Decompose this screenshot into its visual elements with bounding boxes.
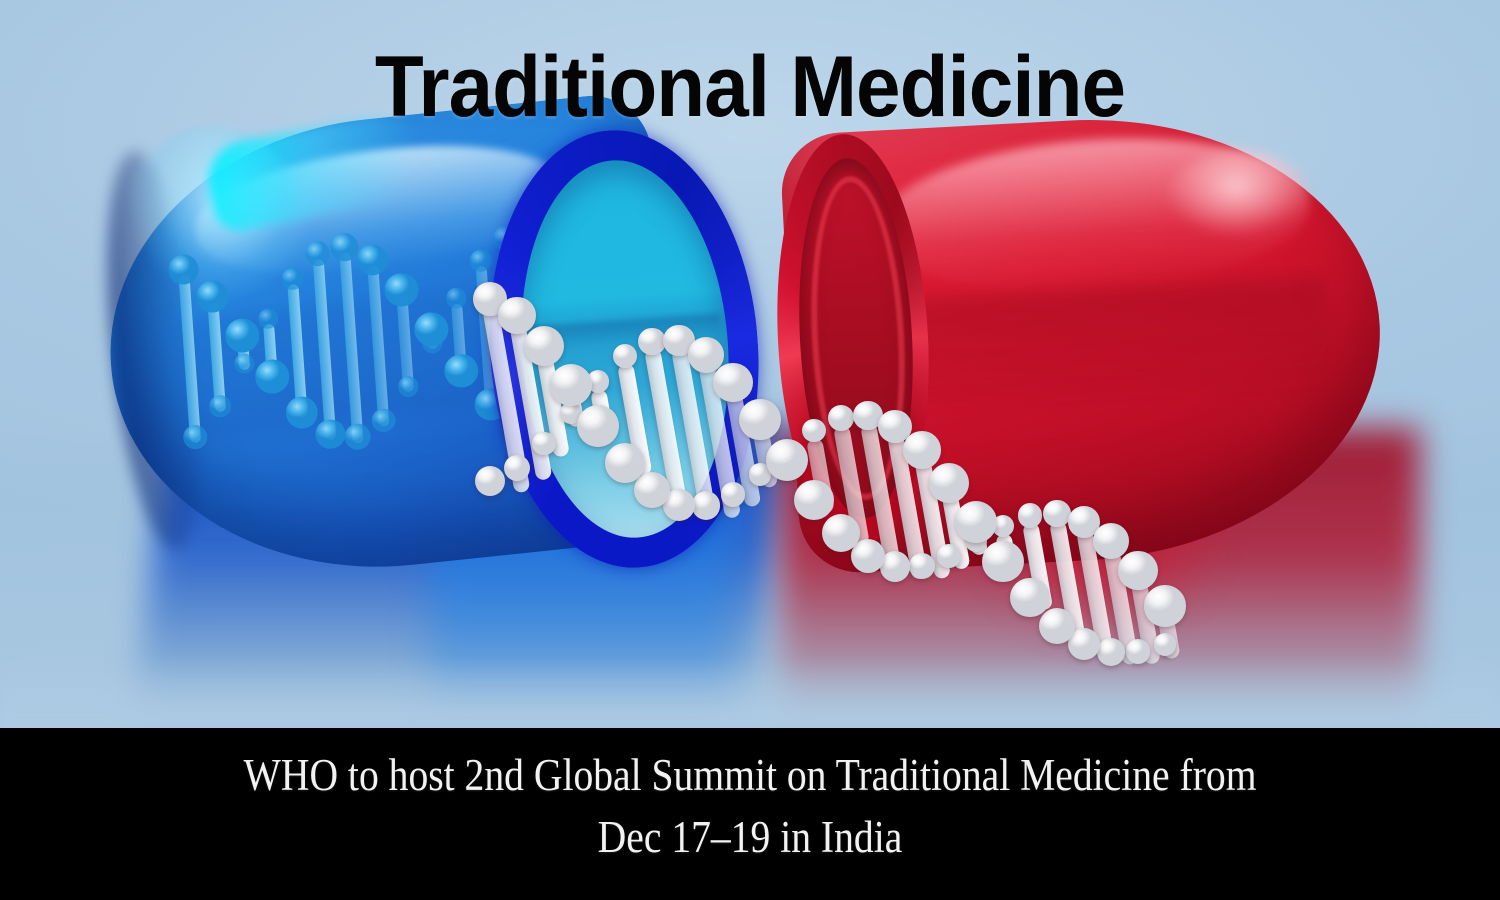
red-capsule-specular-highlight bbox=[1160, 150, 1330, 270]
floor-haze bbox=[0, 658, 1500, 728]
caption-line-1: WHO to host 2nd Global Summit on Traditi… bbox=[90, 744, 1410, 806]
caption-headline: WHO to host 2nd Global Summit on Traditi… bbox=[90, 744, 1410, 868]
page-title: Traditional Medicine bbox=[53, 44, 1448, 130]
dna-double-helix bbox=[470, 330, 1230, 710]
hero-image: Traditional Medicine bbox=[0, 0, 1500, 728]
caption-bar: WHO to host 2nd Global Summit on Traditi… bbox=[0, 728, 1500, 900]
image-canvas: Traditional Medicine WHO to host 2nd Glo… bbox=[0, 0, 1500, 900]
caption-line-2: Dec 17–19 in India bbox=[90, 806, 1410, 868]
